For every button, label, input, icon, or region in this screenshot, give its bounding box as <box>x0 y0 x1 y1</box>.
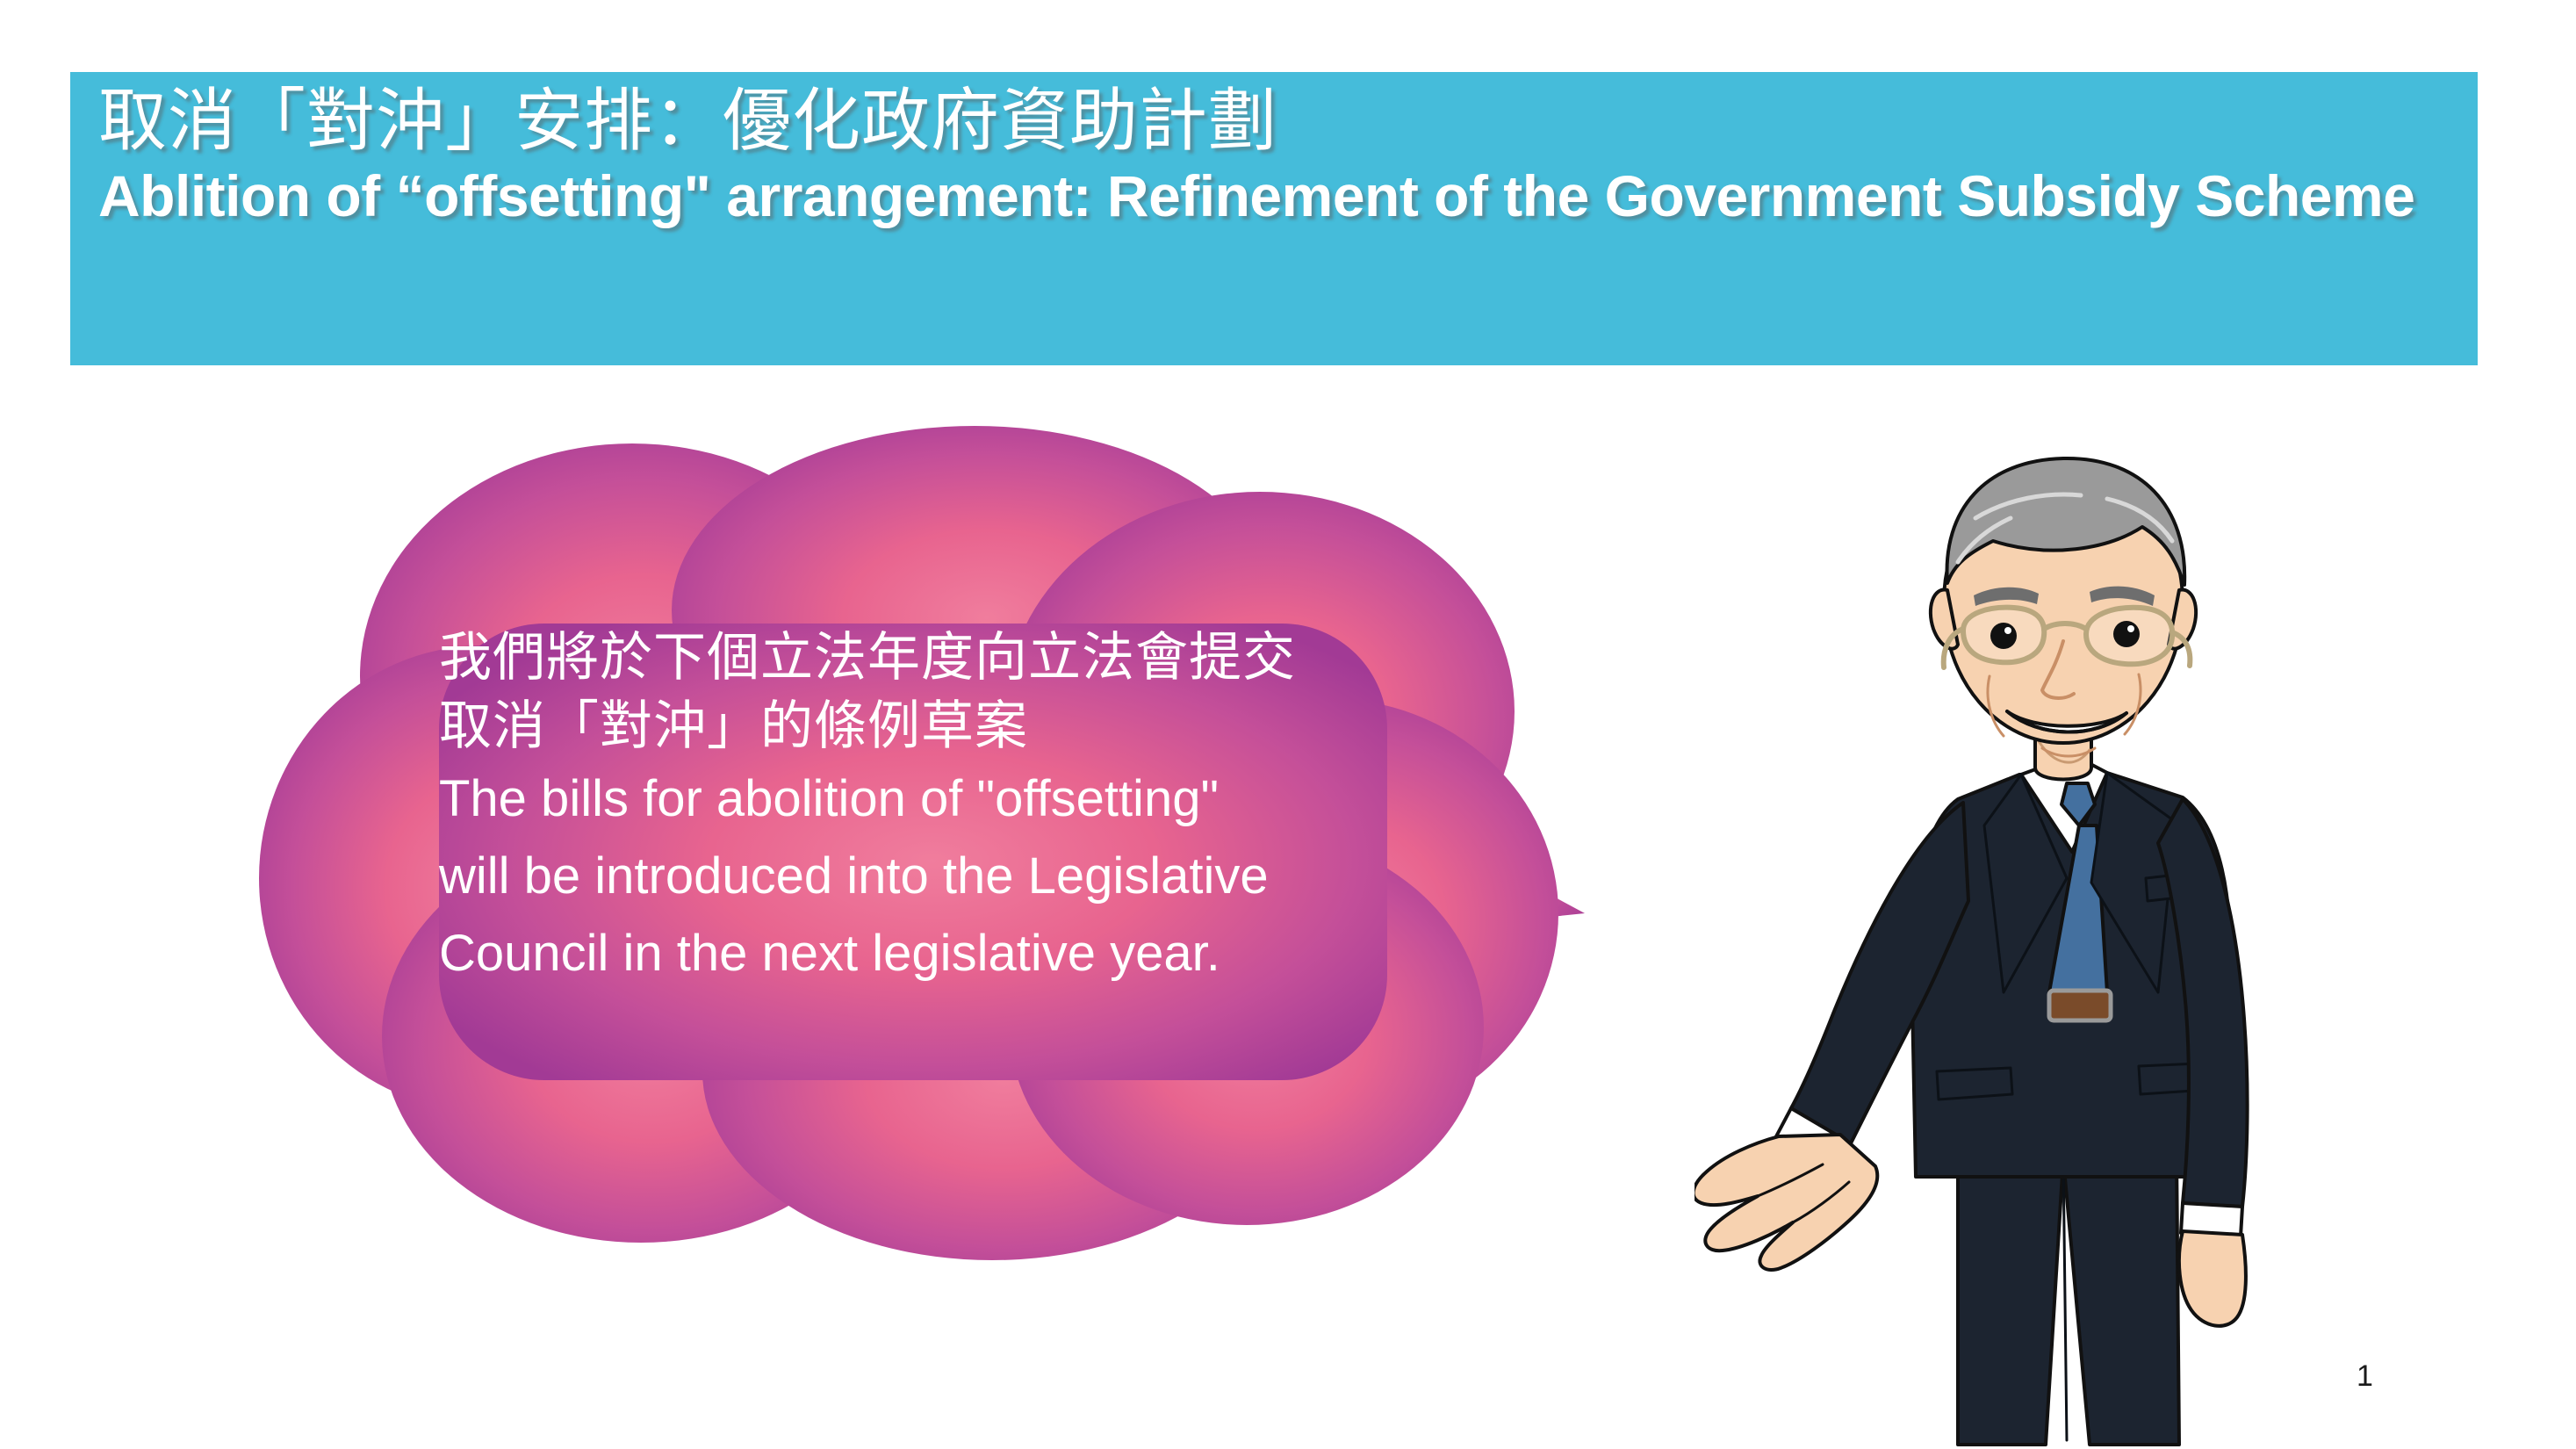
page-number: 1 <box>2357 1359 2373 1394</box>
speech-bubble: 我們將於下個立法年度向立法會提交 取消「對沖」的條例草案 The bills f… <box>263 422 1633 1229</box>
speech-bubble-text: 我們將於下個立法年度向立法會提交 取消「對沖」的條例草案 The bills f… <box>439 624 1528 992</box>
bubble-line-en-1: The bills for abolition of "offsetting" <box>439 761 1528 838</box>
bubble-line-en-3: Council in the next legislative year. <box>439 915 1528 992</box>
header-banner: 取消「對沖」安排：優化政府資助計劃 Ablition of “offsettin… <box>70 72 2478 365</box>
page-title-chinese: 取消「對沖」安排：優化政府資助計劃 <box>98 81 2478 162</box>
person-illustration <box>1695 386 2362 1449</box>
bubble-line-en-2: will be introduced into the Legislative <box>439 838 1528 915</box>
bubble-line-zh-2: 取消「對沖」的條例草案 <box>439 692 1528 761</box>
page-title-english: Ablition of “offsetting" arrangement: Re… <box>98 162 2460 230</box>
bubble-line-zh-1: 我們將於下個立法年度向立法會提交 <box>439 624 1528 692</box>
man-in-suit-pointing-icon <box>1695 386 2362 1449</box>
